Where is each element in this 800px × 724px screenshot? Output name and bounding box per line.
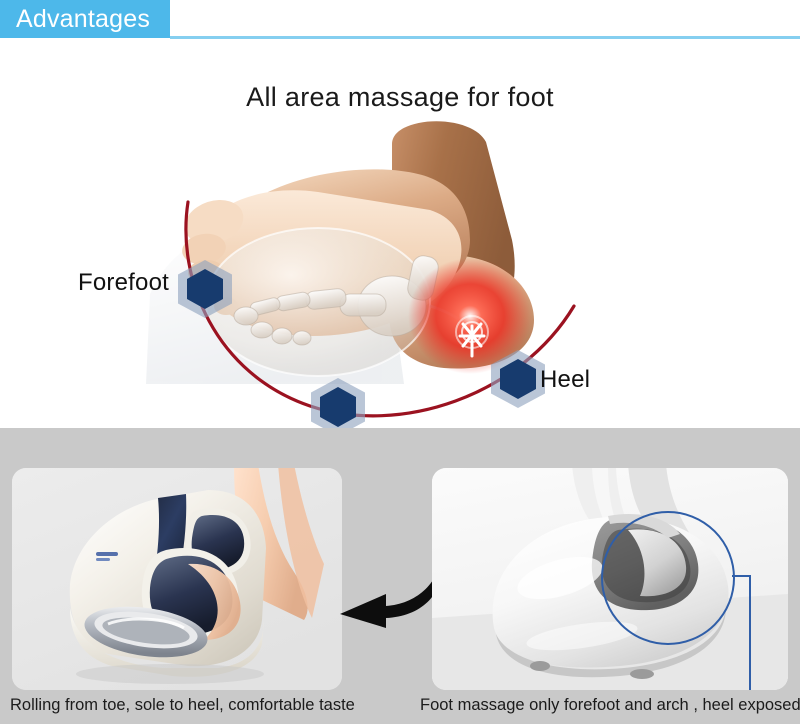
caption-rolling: Rolling from toe, sole to heel, comforta…	[10, 696, 355, 715]
marker-heel[interactable]	[491, 350, 545, 408]
marker-label-forefoot: Forefoot	[78, 269, 169, 297]
photo-dome-massager-heel-exposed	[432, 468, 788, 690]
marker-arch[interactable]	[311, 378, 365, 428]
marker-forefoot[interactable]	[178, 260, 232, 318]
header-divider-line	[170, 36, 800, 39]
curved-arrow-left-icon	[330, 550, 446, 628]
marker-label-heel: Heel	[540, 366, 590, 394]
panel-exposed-heel	[432, 468, 788, 690]
header-tab-label: Advantages	[0, 7, 150, 32]
photo-massager-feet-inserted	[12, 468, 342, 690]
comparison-section: Rolling from toe, sole to heel, comforta…	[0, 428, 800, 724]
caption-exposed-heel: Foot massage only forefoot and arch , he…	[420, 696, 800, 715]
header-tab: Advantages	[0, 0, 170, 38]
section-header: Advantages	[0, 0, 800, 44]
hero-section: All area massage for foot	[0, 44, 800, 428]
panel-rolling	[12, 468, 342, 690]
foot-anatomy-illustration	[0, 44, 800, 428]
advantages-page: Advantages All area massage for foot	[0, 0, 800, 724]
